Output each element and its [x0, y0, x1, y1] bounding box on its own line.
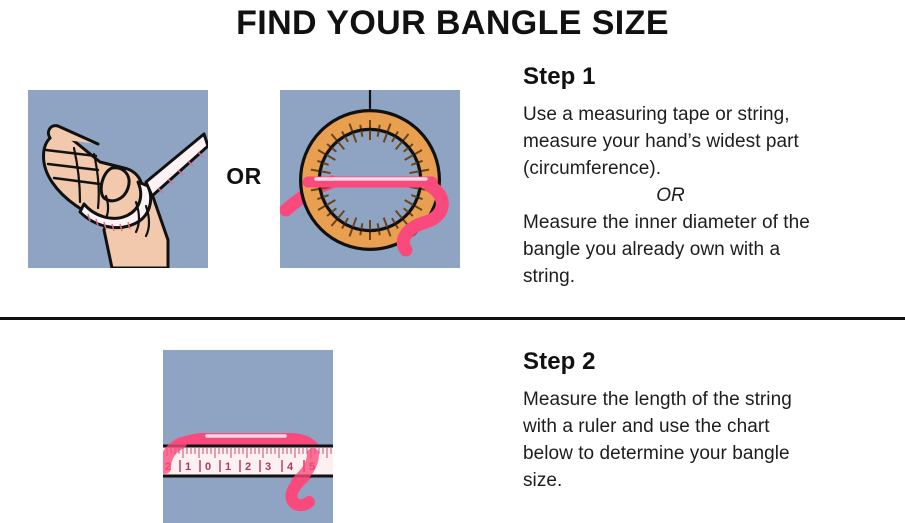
illustration-hand-with-measuring-tape — [28, 90, 208, 268]
step-2-line-4: size. — [523, 470, 562, 491]
step-2-line-3: below to determine your bangle — [523, 443, 790, 464]
step-1-line-3: (circumference). — [523, 158, 661, 179]
section-divider — [0, 317, 905, 320]
ruler-tick-label: 1 — [185, 461, 191, 473]
ruler-tick-label: 2 — [245, 461, 251, 473]
step-1-body: Use a measuring tape or string, measure … — [523, 101, 898, 290]
step-1-or-separator: OR — [523, 182, 898, 209]
step-1-block: Step 1 Use a measuring tape or string, m… — [523, 63, 898, 290]
ruler-tick-label: 3 — [265, 461, 271, 473]
step-2-body: Measure the length of the string with a … — [523, 386, 898, 494]
bangle-string-svg — [280, 90, 460, 268]
ruler-tick-label: 1 — [225, 461, 231, 473]
step-1-line-1: Use a measuring tape or string, — [523, 104, 790, 125]
illustration-bangle-with-string — [280, 90, 460, 268]
ruler-string-svg: 2 1 0 1 2 3 4 5 — [163, 350, 333, 523]
step-1-line-2: measure your hand’s widest part — [523, 131, 799, 152]
step-2-heading: Step 2 — [523, 348, 898, 376]
step-1-line-4: Measure the inner diameter of the — [523, 212, 810, 233]
step-2-line-1: Measure the length of the string — [523, 389, 792, 410]
step-1-line-6: string. — [523, 266, 575, 287]
or-separator-label: OR — [208, 163, 280, 190]
step-1-line-5: bangle you already own with a — [523, 239, 780, 260]
illustration-ruler-with-string: 2 1 0 1 2 3 4 5 — [163, 350, 333, 523]
step-1-heading: Step 1 — [523, 63, 898, 91]
step-2-block: Step 2 Measure the length of the string … — [523, 348, 898, 494]
hand-measuring-tape-svg — [28, 90, 208, 268]
ruler-tick-label: 4 — [287, 461, 294, 473]
page-title: FIND YOUR BANGLE SIZE — [0, 2, 905, 44]
ruler-tick-label: 0 — [205, 461, 211, 473]
step-2-line-2: with a ruler and use the chart — [523, 416, 770, 437]
